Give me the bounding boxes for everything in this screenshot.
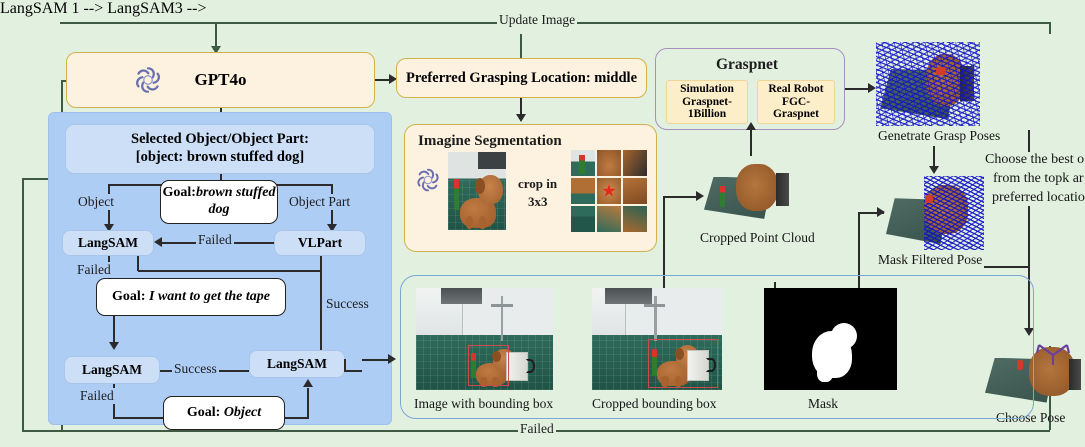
line-vlpart-success-vertical — [320, 256, 322, 360]
line-preferred-update-corner — [520, 34, 521, 36]
node-gpt4o-label: GPT4o — [195, 70, 247, 90]
crop-grid-3x3: ★ — [571, 150, 647, 232]
crop-cell — [571, 206, 595, 232]
edge-label-failed-1: Failed — [196, 232, 234, 248]
node-selected-object-line2: [object: brown stuffed dog] — [131, 149, 309, 167]
node-gpt4o[interactable]: GPT4o — [66, 52, 375, 108]
image-dog-closeup — [448, 152, 506, 230]
node-real-robot-fgc-graspnet[interactable]: Real Robot FGC- Graspnet — [757, 80, 835, 124]
openai-logo-icon-imagine — [413, 165, 443, 195]
node-simulation-line2: Graspnet- — [680, 96, 734, 109]
line-goal-tape-to-langsam2 — [113, 316, 115, 344]
line-langsam2-failed-bar — [113, 417, 165, 419]
node-simulation-graspnet[interactable]: Simulation Graspnet- 1Billion — [666, 80, 748, 124]
node-langsam-1-label: LangSAM — [78, 235, 138, 251]
line-langsam1-to-success-rail — [138, 270, 320, 272]
node-simulation-line1: Simulation — [680, 83, 734, 96]
edge-label-failed-3: Failed — [78, 388, 116, 404]
node-goal-object[interactable]: Goal: Object — [163, 396, 285, 430]
node-goal-tape[interactable]: Goal: I want to get the tape — [96, 278, 286, 316]
image-with-bounding-box — [416, 288, 553, 390]
arrow-pointcloud-to-graspnet — [746, 122, 756, 130]
line-to-gpt4o-top — [215, 22, 217, 48]
edge-label-object-part: Object Part — [287, 194, 352, 210]
arrow-croppedbb-to-pointcloud — [696, 191, 704, 201]
node-vlpart-label: VLPart — [298, 235, 342, 251]
node-goal-tape-value: I want to get the tape — [149, 289, 270, 304]
gripper-marker-icon — [1035, 341, 1075, 371]
node-goal-object-value: Object — [224, 405, 261, 420]
arrow-rail-to-image-panel — [388, 354, 396, 364]
node-realrobot-line1: Real Robot — [768, 83, 823, 96]
line-goal-object-to-langsam3-v — [307, 388, 309, 418]
crop-cell — [623, 150, 647, 176]
caption-image-with-bounding-box: Image with bounding box — [414, 396, 553, 412]
caption-generate-grasp-poses: Genetrate Grasp Poses — [878, 128, 1000, 144]
node-goal-brown-stuffed-dog[interactable]: Goal:brown stuffed dog — [160, 180, 278, 224]
node-realrobot-line2: FGC- — [768, 96, 823, 109]
update-image-line-right-stub — [1049, 22, 1051, 34]
star-icon: ★ — [601, 183, 616, 200]
caption-choose-best-line2: from the topk ar — [993, 171, 1084, 187]
crop-cell — [571, 150, 595, 176]
node-preferred-grasping-location[interactable]: Preferred Grasping Location: middle — [396, 58, 647, 98]
crop-cell — [623, 178, 647, 204]
edge-label-object: Object — [76, 194, 116, 210]
caption-cropped-point-cloud: Cropped Point Cloud — [700, 230, 815, 246]
panel-graspnet-title: Graspnet — [716, 56, 778, 74]
line-maskfiltered-to-rail — [984, 266, 1029, 268]
image-cropped-bounding-box — [592, 288, 722, 390]
image-generate-grasp-poses — [876, 42, 980, 126]
caption-cropped-bounding-box: Cropped bounding box — [592, 396, 717, 412]
line-croppedbb-to-pointcloud — [663, 196, 699, 198]
line-langsam1-rail-riser — [137, 256, 139, 271]
node-vlpart[interactable]: VLPart — [274, 230, 366, 256]
label-crop-in-line1: crop in — [518, 176, 557, 192]
crop-cell — [571, 178, 595, 204]
panel-imagine-segmentation-title: Imagine Segmentation — [418, 133, 562, 150]
node-preferred-grasping-location-label: Preferred Grasping Location: middle — [406, 70, 637, 87]
arrow-vlpart-failed-to-langsam1 — [154, 237, 162, 247]
node-goal-object-prefix: Goal: — [187, 405, 220, 420]
image-mask — [764, 288, 897, 390]
node-realrobot-line3: Graspnet — [768, 108, 823, 121]
node-langsam-1[interactable]: LangSAM — [62, 230, 154, 256]
edge-label-failed-bottom: Failed — [518, 421, 556, 437]
arrow-graspnet-to-poses — [868, 83, 876, 93]
line-pointcloud-to-graspnet — [750, 130, 752, 156]
line-goal-object-to-langsam3-h — [285, 417, 309, 419]
line-poses-to-maskfiltered — [933, 146, 935, 168]
caption-choose-best-line1: Choose the best o — [985, 152, 1084, 168]
crop-cell — [597, 150, 621, 176]
node-selected-object[interactable]: Selected Object/Object Part: [object: br… — [65, 124, 375, 174]
arrow-goal-object-to-langsam3 — [303, 379, 313, 387]
openai-logo-icon — [131, 63, 165, 97]
line-langsam3-rail-join — [344, 370, 362, 372]
caption-mask-filtered-pose: Mask Filtered Pose — [878, 252, 982, 268]
edge-label-success-2: Success — [172, 361, 219, 377]
node-goal-tape-prefix: Goal: — [112, 289, 145, 304]
line-preferred-to-update — [520, 34, 522, 58]
crop-cell — [623, 206, 647, 232]
edge-label-update-image: Update Image — [497, 12, 577, 28]
node-langsam-3[interactable]: LangSAM — [249, 350, 345, 378]
arrow-preferred-to-imagine — [516, 114, 526, 122]
arrow-poses-to-maskfiltered — [929, 166, 939, 174]
label-crop-in-line2: 3x3 — [528, 194, 548, 210]
arrow-goal-tape-to-langsam2 — [109, 342, 119, 350]
node-goal-brown-prefix: Goal: — [163, 185, 196, 200]
node-langsam-2-label: LangSAM — [82, 362, 142, 378]
caption-choose-best-line3: preferred locatio — [992, 190, 1085, 206]
flowchart-canvas: Update Image Failed GPT4o — [0, 0, 1085, 447]
edge-label-failed-2: Failed — [75, 262, 113, 278]
node-selected-object-line1: Selected Object/Object Part: — [131, 131, 309, 149]
image-cropped-point-cloud — [704, 160, 794, 224]
line-choose-rail-top — [1028, 130, 1030, 152]
crop-cell-center: ★ — [597, 178, 621, 204]
node-langsam-2[interactable]: LangSAM — [64, 356, 160, 384]
edge-label-success-1: Success — [324, 296, 371, 312]
failed-line-left-vertical — [22, 178, 24, 430]
image-mask-filtered-pose — [884, 176, 984, 250]
node-langsam-3-label: LangSAM — [267, 356, 327, 372]
arrow-mask-to-maskfiltered — [877, 207, 885, 217]
caption-mask: Mask — [808, 396, 838, 412]
crop-cell — [597, 206, 621, 232]
node-simulation-line3: 1Billion — [680, 108, 734, 121]
node-goal-brown-value: brown stuffed dog — [196, 185, 275, 217]
